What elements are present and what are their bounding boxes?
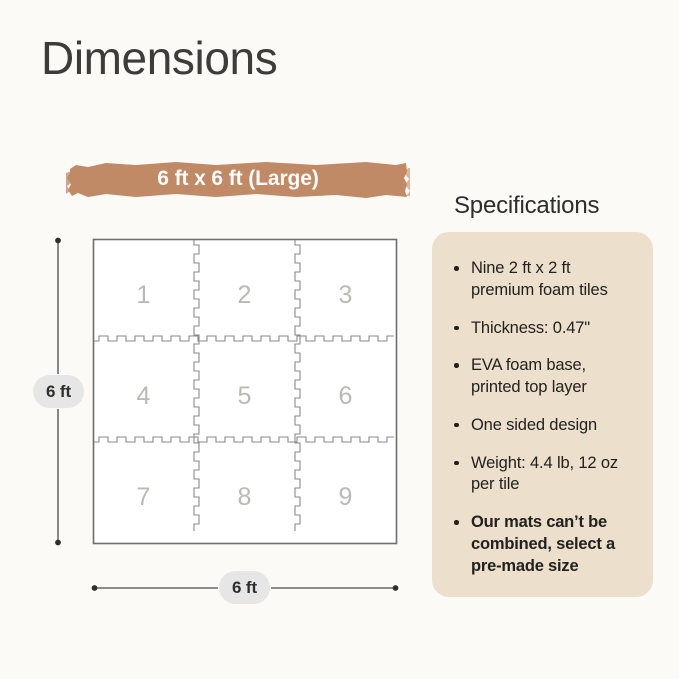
width-dimension-label: 6 ft (219, 571, 270, 604)
size-banner: 6 ft x 6 ft (Large) (66, 160, 410, 199)
tile-number: 4 (93, 384, 194, 409)
page-title: Dimensions (41, 35, 277, 81)
mat-grid-drawing (0, 0, 430, 679)
horizontal-seams (94, 336, 394, 442)
tile-number: 2 (194, 283, 295, 308)
vertical-seams (194, 240, 300, 531)
height-dimension-label: 6 ft (33, 375, 84, 408)
spec-item: Weight: 4.4 lb, 12 oz per tile (453, 453, 637, 497)
specifications-list: Nine 2 ft x 2 ft premium foam tiles Thic… (453, 258, 637, 577)
tile-number: 6 (295, 384, 396, 409)
tile-number: 9 (295, 485, 396, 510)
tile-number: 7 (93, 485, 194, 510)
spec-item: Our mats can’t be combined, select a pre… (453, 512, 637, 577)
specifications-heading: Specifications (454, 194, 599, 218)
tile-number: 3 (295, 283, 396, 308)
size-banner-label: 6 ft x 6 ft (Large) (66, 160, 410, 199)
tile-number: 1 (93, 283, 194, 308)
spec-item: EVA foam base, printed top layer (453, 355, 637, 399)
mat-outer-border (94, 240, 397, 544)
tile-number: 5 (194, 384, 295, 409)
spec-item: One sided design (453, 415, 637, 437)
spec-item: Nine 2 ft x 2 ft premium foam tiles (453, 258, 637, 302)
specifications-panel: Nine 2 ft x 2 ft premium foam tiles Thic… (432, 232, 653, 597)
mat-diagram: 1 2 3 4 5 6 7 8 9 (0, 0, 430, 679)
tile-number: 8 (194, 485, 295, 510)
spec-item: Thickness: 0.47" (453, 318, 637, 340)
